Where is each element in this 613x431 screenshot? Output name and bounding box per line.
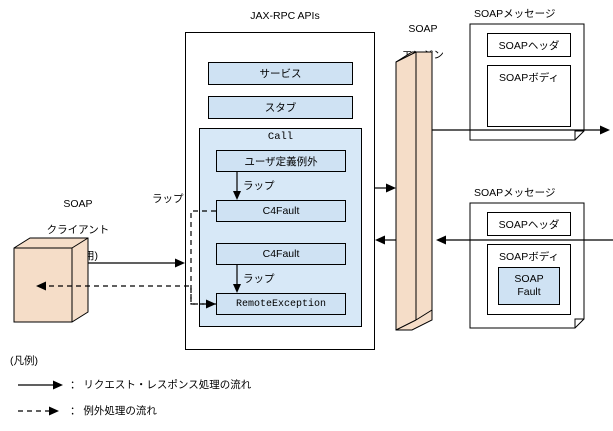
legend-item-1: ： リクエスト・レスポンス処理の流れ [70, 379, 251, 392]
legend-item-2: ： 例外処理の流れ [70, 405, 157, 418]
legend-arrow-solid [0, 0, 613, 431]
